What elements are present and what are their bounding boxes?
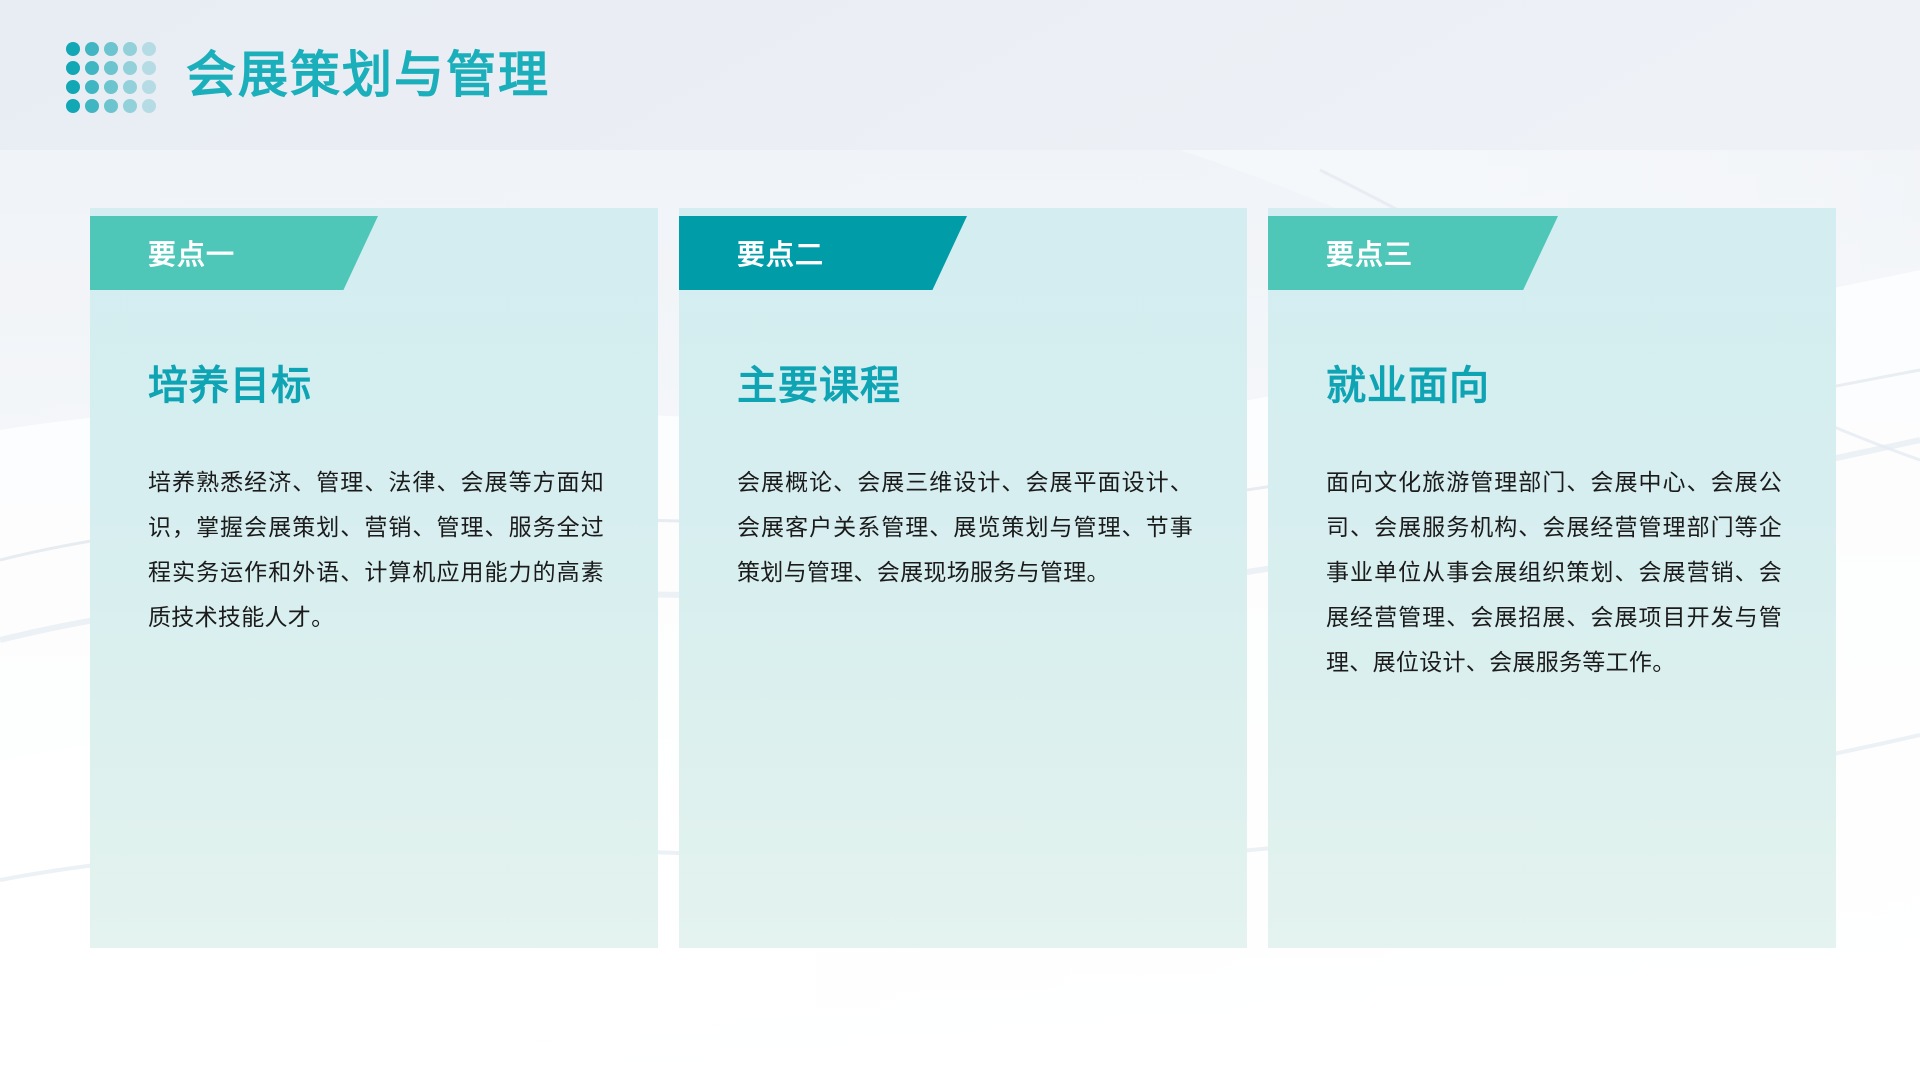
card-title-two: 主要课程	[737, 353, 901, 411]
card-banner-two: 要点二	[679, 216, 967, 290]
card-point-three[interactable]: 要点三 就业面向 面向文化旅游管理部门、会展中心、会展公司、会展服务机构、会展经…	[1268, 208, 1836, 948]
card-banner-one: 要点一	[90, 216, 378, 290]
slide-header: 会展策划与管理	[0, 0, 1920, 160]
slide-root: 会展策划与管理 要点一 培养目标 培养熟悉经济、管理、法律、会展等方面知识，掌握…	[0, 0, 1920, 1080]
dot-grid-icon	[66, 42, 161, 118]
card-banner-label: 要点一	[148, 233, 235, 273]
card-point-one[interactable]: 要点一 培养目标 培养熟悉经济、管理、法律、会展等方面知识，掌握会展策划、营销、…	[90, 208, 658, 948]
card-banner-label: 要点三	[1326, 233, 1413, 273]
cards-container: 要点一 培养目标 培养熟悉经济、管理、法律、会展等方面知识，掌握会展策划、营销、…	[0, 208, 1920, 953]
card-banner-three: 要点三	[1268, 216, 1558, 290]
slide-footer	[0, 960, 1920, 1080]
page-title: 会展策划与管理	[186, 48, 550, 103]
card-body-one: 培养熟悉经济、管理、法律、会展等方面知识，掌握会展策划、营销、管理、服务全过程实…	[148, 460, 604, 640]
card-title-one: 培养目标	[148, 353, 312, 411]
card-banner-label: 要点二	[737, 233, 824, 273]
card-body-two: 会展概论、会展三维设计、会展平面设计、会展客户关系管理、展览策划与管理、节事策划…	[737, 460, 1193, 595]
card-point-two[interactable]: 要点二 主要课程 会展概论、会展三维设计、会展平面设计、会展客户关系管理、展览策…	[679, 208, 1247, 948]
card-body-three: 面向文化旅游管理部门、会展中心、会展公司、会展服务机构、会展经营管理部门等企事业…	[1326, 460, 1782, 685]
card-title-three: 就业面向	[1326, 353, 1490, 411]
